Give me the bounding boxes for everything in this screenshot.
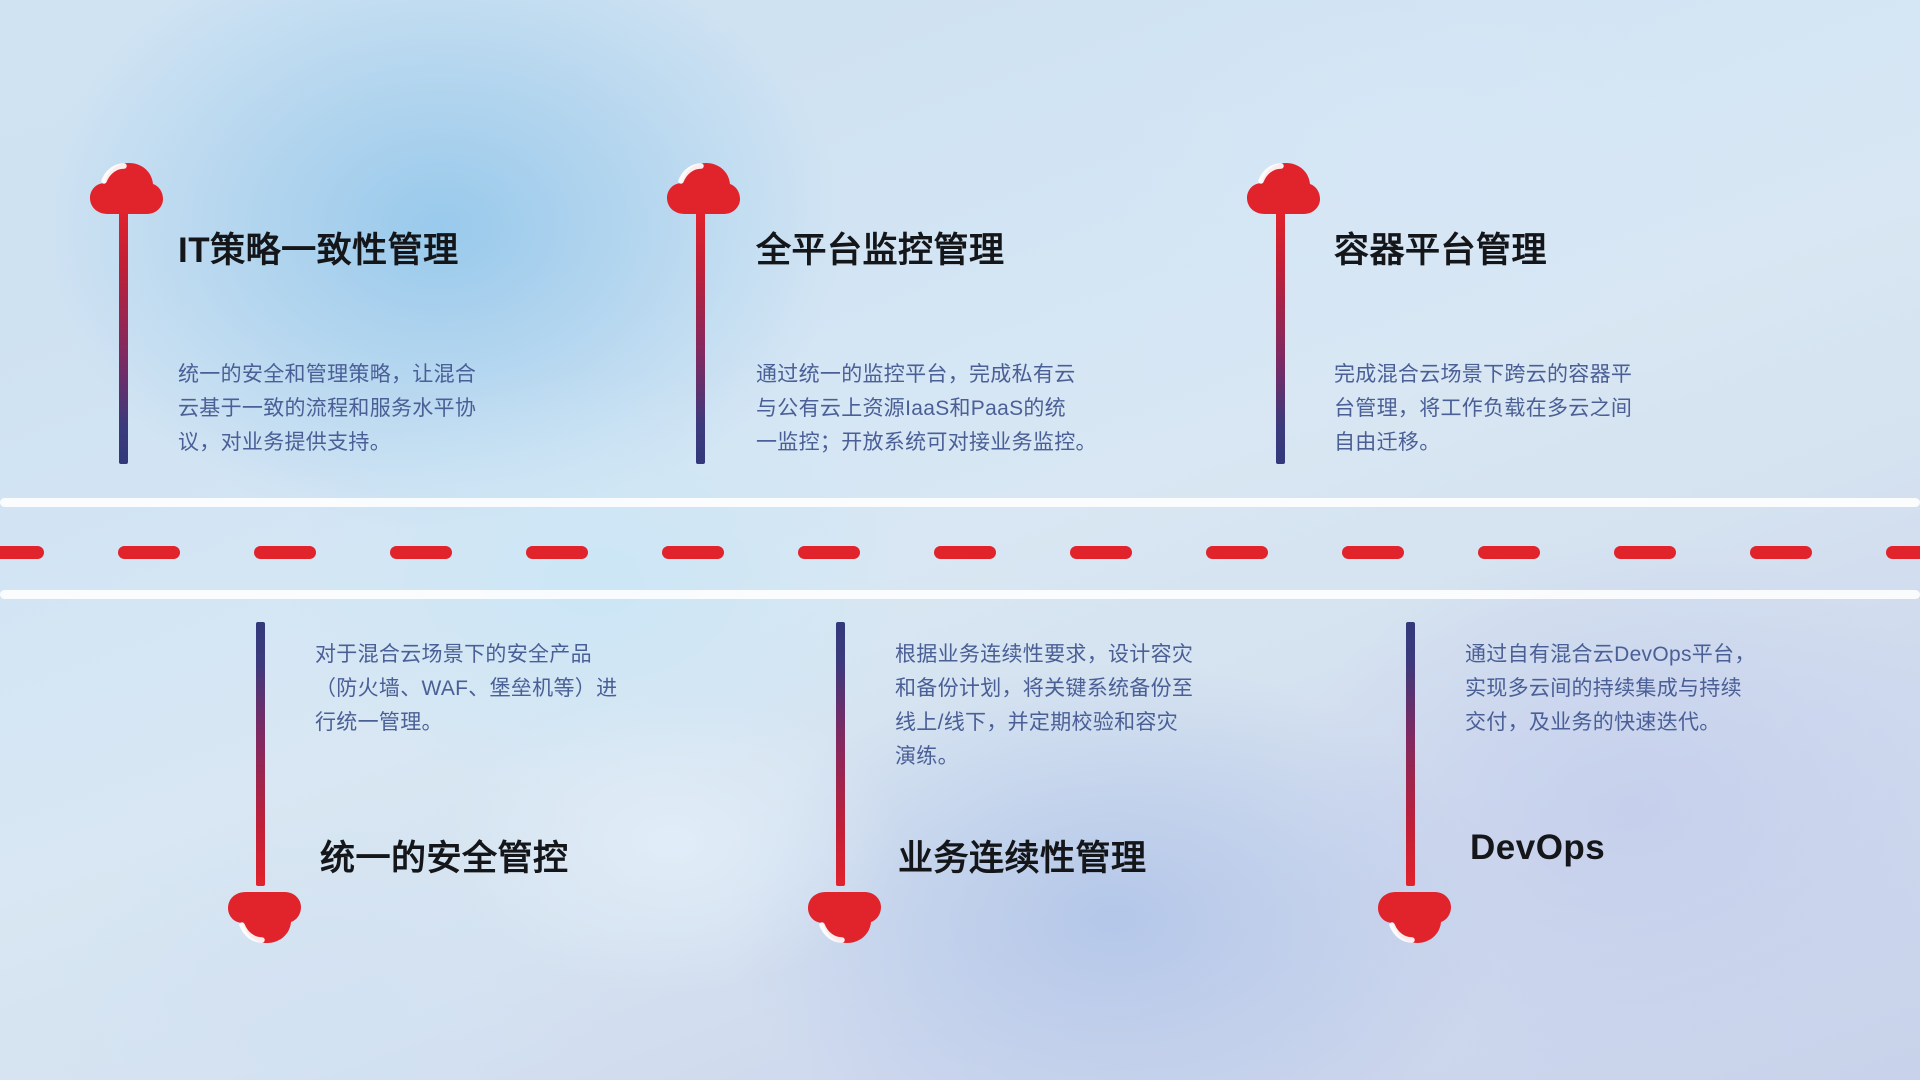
- connector-line: [1276, 212, 1285, 464]
- cloud-icon: [226, 890, 302, 946]
- divider-dash: [390, 546, 452, 559]
- description-line: 和备份计划，将关键系统备份至: [895, 672, 1275, 706]
- description-line: 自由迁移。: [1334, 426, 1709, 460]
- card-heading: 统一的安全管控: [320, 830, 569, 881]
- connector-line: [696, 212, 705, 464]
- description-line: 通过统一的监控平台，完成私有云: [756, 358, 1136, 392]
- description-line: 线上/线下，并定期校验和容灾: [895, 706, 1275, 740]
- card-description: 对于混合云场景下的安全产品 （防火墙、WAF、堡垒机等）进 行统一管理。: [315, 638, 685, 740]
- divider-dash: [1342, 546, 1404, 559]
- connector-line: [836, 622, 845, 886]
- description-line: 交付，及业务的快速迭代。: [1465, 706, 1835, 740]
- description-line: 实现多云间的持续集成与持续: [1465, 672, 1835, 706]
- divider-rail-bottom: [0, 590, 1920, 599]
- cloud-icon: [806, 890, 882, 946]
- description-line: 对于混合云场景下的安全产品: [315, 638, 685, 672]
- divider-dash: [1614, 546, 1676, 559]
- description-line: （防火墙、WAF、堡垒机等）进: [315, 672, 685, 706]
- description-line: 完成混合云场景下跨云的容器平: [1334, 358, 1709, 392]
- infographic-canvas: IT策略一致性管理 统一的安全和管理策略，让混合 云基于一致的流程和服务水平协 …: [0, 0, 1920, 1080]
- description-line: 根据业务连续性要求，设计容灾: [895, 638, 1275, 672]
- description-line: 通过自有混合云DevOps平台，: [1465, 638, 1835, 672]
- dashed-road-divider: [0, 546, 1920, 559]
- description-line: 统一的安全和管理策略，让混合: [178, 358, 533, 392]
- divider-dash: [0, 546, 44, 559]
- card-heading: DevOps: [1470, 828, 1605, 868]
- description-line: 议，对业务提供支持。: [178, 426, 533, 460]
- divider-dash: [1886, 546, 1920, 559]
- connector-line: [256, 622, 265, 886]
- divider-dash: [526, 546, 588, 559]
- cloud-icon: [1376, 890, 1452, 946]
- card-heading: 容器平台管理: [1334, 222, 1547, 273]
- divider-dash: [1750, 546, 1812, 559]
- divider-dash: [1070, 546, 1132, 559]
- card-heading: IT策略一致性管理: [178, 222, 459, 273]
- cloud-icon: [1245, 160, 1321, 216]
- description-line: 行统一管理。: [315, 706, 685, 740]
- card-heading: 全平台监控管理: [756, 222, 1005, 273]
- description-line: 云基于一致的流程和服务水平协: [178, 392, 533, 426]
- divider-dash: [254, 546, 316, 559]
- description-line: 台管理，将工作负载在多云之间: [1334, 392, 1709, 426]
- cloud-icon: [88, 160, 164, 216]
- divider-dash: [662, 546, 724, 559]
- card-description: 通过统一的监控平台，完成私有云 与公有云上资源IaaS和PaaS的统 一监控；开…: [756, 358, 1136, 460]
- card-description: 根据业务连续性要求，设计容灾 和备份计划，将关键系统备份至 线上/线下，并定期校…: [895, 638, 1275, 774]
- description-line: 与公有云上资源IaaS和PaaS的统: [756, 392, 1136, 426]
- divider-dash: [1478, 546, 1540, 559]
- card-description: 统一的安全和管理策略，让混合 云基于一致的流程和服务水平协 议，对业务提供支持。: [178, 358, 533, 460]
- card-description: 通过自有混合云DevOps平台， 实现多云间的持续集成与持续 交付，及业务的快速…: [1465, 638, 1835, 740]
- divider-dash: [118, 546, 180, 559]
- divider-dash: [798, 546, 860, 559]
- description-line: 演练。: [895, 740, 1275, 774]
- card-heading: 业务连续性管理: [898, 830, 1147, 881]
- connector-line: [119, 212, 128, 464]
- divider-dash: [1206, 546, 1268, 559]
- cloud-icon: [665, 160, 741, 216]
- description-line: 一监控；开放系统可对接业务监控。: [756, 426, 1136, 460]
- divider-rail-top: [0, 498, 1920, 507]
- divider-dash: [934, 546, 996, 559]
- card-description: 完成混合云场景下跨云的容器平 台管理，将工作负载在多云之间 自由迁移。: [1334, 358, 1709, 460]
- connector-line: [1406, 622, 1415, 886]
